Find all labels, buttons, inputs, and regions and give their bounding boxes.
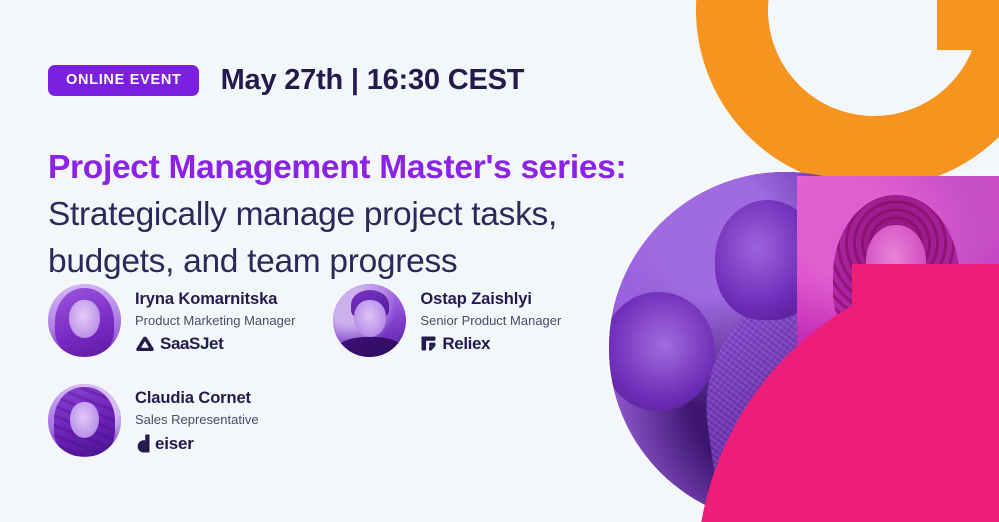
orange-ring-extension [937,0,999,50]
avatar [48,384,121,457]
avatar-face [69,300,100,338]
event-meta-row: ONLINE EVENT May 27th | 16:30 CEST [48,64,524,97]
speaker-row-top: Iryna Komarnitska Product Marketing Mana… [48,284,688,357]
online-event-badge: ONLINE EVENT [48,65,199,96]
company-name: SaaSJet [160,335,223,352]
speaker-card-iryna-komarnitska: Iryna Komarnitska Product Marketing Mana… [48,284,295,357]
speaker-info: Iryna Komarnitska Product Marketing Mana… [135,289,295,352]
avatar-face [70,402,99,439]
avatar-face [354,300,386,337]
saasjet-triangle-icon [135,335,155,352]
speaker-role: Senior Product Manager [420,311,561,331]
reliex-r-icon [420,335,437,352]
pink-shape-extension [852,264,999,522]
speaker-company: eiser [135,434,259,453]
speaker-name: Ostap Zaishlyi [420,289,561,310]
headline-rest: Strategically manage project tasks, budg… [48,196,557,280]
avatar [48,284,121,357]
speaker-card-ostap-zaishlyi: Ostap Zaishlyi Senior Product Manager Re… [333,284,561,357]
company-name: eiser [155,435,194,452]
avatar [333,284,406,357]
avatar-shoulders [338,337,402,357]
speaker-role: Product Marketing Manager [135,311,295,331]
deiser-d-icon [135,434,150,453]
speaker-role: Sales Representative [135,410,259,430]
speaker-card-claudia-cornet: Claudia Cornet Sales Representative eise… [48,384,259,457]
page-title: Project Management Master's series: Stra… [48,144,668,285]
company-name: Reliex [442,335,490,352]
speaker-info: Ostap Zaishlyi Senior Product Manager Re… [420,289,561,352]
webinar-promo-banner: ONLINE EVENT May 27th | 16:30 CEST Proje… [0,0,999,522]
headline-accent: Project Management Master's series: [48,149,626,186]
speaker-info: Claudia Cornet Sales Representative eise… [135,388,259,453]
speaker-name: Iryna Komarnitska [135,289,295,310]
speaker-row-bottom: Claudia Cornet Sales Representative eise… [48,384,688,457]
speaker-company: Reliex [420,335,561,352]
speakers-section: Iryna Komarnitska Product Marketing Mana… [48,284,688,457]
speaker-company: SaaSJet [135,335,295,352]
speaker-name: Claudia Cornet [135,388,259,409]
event-date-time: May 27th | 16:30 CEST [221,64,525,97]
content-column: ONLINE EVENT May 27th | 16:30 CEST Proje… [0,0,700,522]
